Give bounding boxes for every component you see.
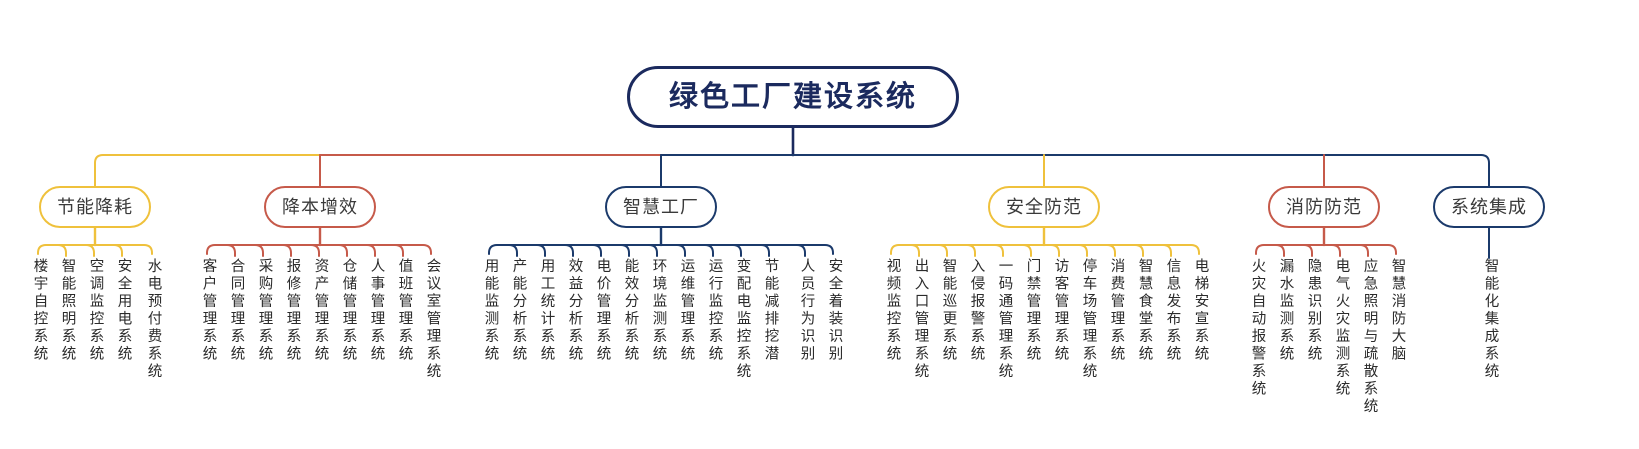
category-node-label: 消防防范	[1286, 198, 1362, 216]
leaf-node[interactable]: 节能减排挖潜	[761, 258, 778, 363]
leaf-node[interactable]: 仓储管理系统	[339, 258, 356, 363]
leaf-node[interactable]: 变配电监控系统	[733, 258, 750, 381]
leaf-node[interactable]: 电梯安宣系统	[1191, 258, 1208, 363]
leaf-node[interactable]: 能效分析系统	[621, 258, 638, 363]
category-node-label: 智慧工厂	[623, 198, 699, 216]
leaf-node[interactable]: 火灾自动报警系统	[1248, 258, 1265, 398]
leaf-node[interactable]: 门禁管理系统	[1023, 258, 1040, 363]
leaf-node[interactable]: 电价管理系统	[593, 258, 610, 363]
leaf-node[interactable]: 智能照明系统	[58, 258, 75, 363]
category-node-label: 系统集成	[1451, 198, 1527, 216]
leaf-node[interactable]: 会议室管理系统	[423, 258, 440, 381]
leaf-node[interactable]: 信息发布系统	[1163, 258, 1180, 363]
leaf-node[interactable]: 智慧消防大脑	[1388, 258, 1405, 363]
org-tree-diagram: 绿色工厂建设系统 节能降耗楼宇自控系统智能照明系统空调监控系统安全用电系统水电预…	[0, 0, 1639, 449]
leaf-node[interactable]: 运行监控系统	[705, 258, 722, 363]
leaf-node[interactable]: 访客管理系统	[1051, 258, 1068, 363]
leaf-node[interactable]: 入侵报警系统	[967, 258, 984, 363]
leaf-node[interactable]: 消费管理系统	[1107, 258, 1124, 363]
leaf-node[interactable]: 报修管理系统	[283, 258, 300, 363]
leaf-node[interactable]: 合同管理系统	[227, 258, 244, 363]
leaf-node[interactable]: 电气火灾监测系统	[1332, 258, 1349, 398]
leaf-node[interactable]: 采购管理系统	[255, 258, 272, 363]
category-node-label: 安全防范	[1006, 198, 1082, 216]
leaf-node[interactable]: 产能分析系统	[509, 258, 526, 363]
leaf-node[interactable]: 应急照明与疏散系统	[1360, 258, 1377, 416]
leaf-node[interactable]: 水电预付费系统	[144, 258, 161, 381]
leaf-node[interactable]: 一码通管理系统	[995, 258, 1012, 381]
leaf-node[interactable]: 用工统计系统	[537, 258, 554, 363]
leaf-node[interactable]: 隐患识别系统	[1304, 258, 1321, 363]
leaf-node[interactable]: 视频监控系统	[883, 258, 900, 363]
category-node-smart-factory[interactable]: 智慧工厂	[605, 186, 717, 228]
leaf-node[interactable]: 客户管理系统	[199, 258, 216, 363]
root-node[interactable]: 绿色工厂建设系统	[627, 66, 959, 128]
leaf-node[interactable]: 智慧食堂系统	[1135, 258, 1152, 363]
root-node-label: 绿色工厂建设系统	[669, 83, 917, 112]
leaf-node[interactable]: 空调监控系统	[86, 258, 103, 363]
category-node-security-protection[interactable]: 安全防范	[988, 186, 1100, 228]
leaf-node[interactable]: 值班管理系统	[395, 258, 412, 363]
leaf-node[interactable]: 出入口管理系统	[911, 258, 928, 381]
leaf-node[interactable]: 资产管理系统	[311, 258, 328, 363]
category-node-fire-protection[interactable]: 消防防范	[1268, 186, 1380, 228]
category-node-energy-saving[interactable]: 节能降耗	[39, 186, 151, 228]
category-node-label: 降本增效	[282, 198, 358, 216]
leaf-node[interactable]: 人员行为识别	[797, 258, 814, 363]
leaf-node[interactable]: 安全着装识别	[825, 258, 842, 363]
leaf-node[interactable]: 智能巡更系统	[939, 258, 956, 363]
category-node-cost-reduction[interactable]: 降本增效	[264, 186, 376, 228]
leaf-node[interactable]: 效益分析系统	[565, 258, 582, 363]
leaf-node[interactable]: 楼宇自控系统	[30, 258, 47, 363]
category-node-system-integration[interactable]: 系统集成	[1433, 186, 1545, 228]
leaf-node[interactable]: 用能监测系统	[481, 258, 498, 363]
leaf-node[interactable]: 漏水监测系统	[1276, 258, 1293, 363]
leaf-node[interactable]: 停车场管理系统	[1079, 258, 1096, 381]
leaf-node[interactable]: 运维管理系统	[677, 258, 694, 363]
leaf-node[interactable]: 智能化集成系统	[1481, 258, 1498, 381]
leaf-node[interactable]: 安全用电系统	[114, 258, 131, 363]
leaf-node[interactable]: 环境监测系统	[649, 258, 666, 363]
leaf-node[interactable]: 人事管理系统	[367, 258, 384, 363]
category-node-label: 节能降耗	[57, 198, 133, 216]
